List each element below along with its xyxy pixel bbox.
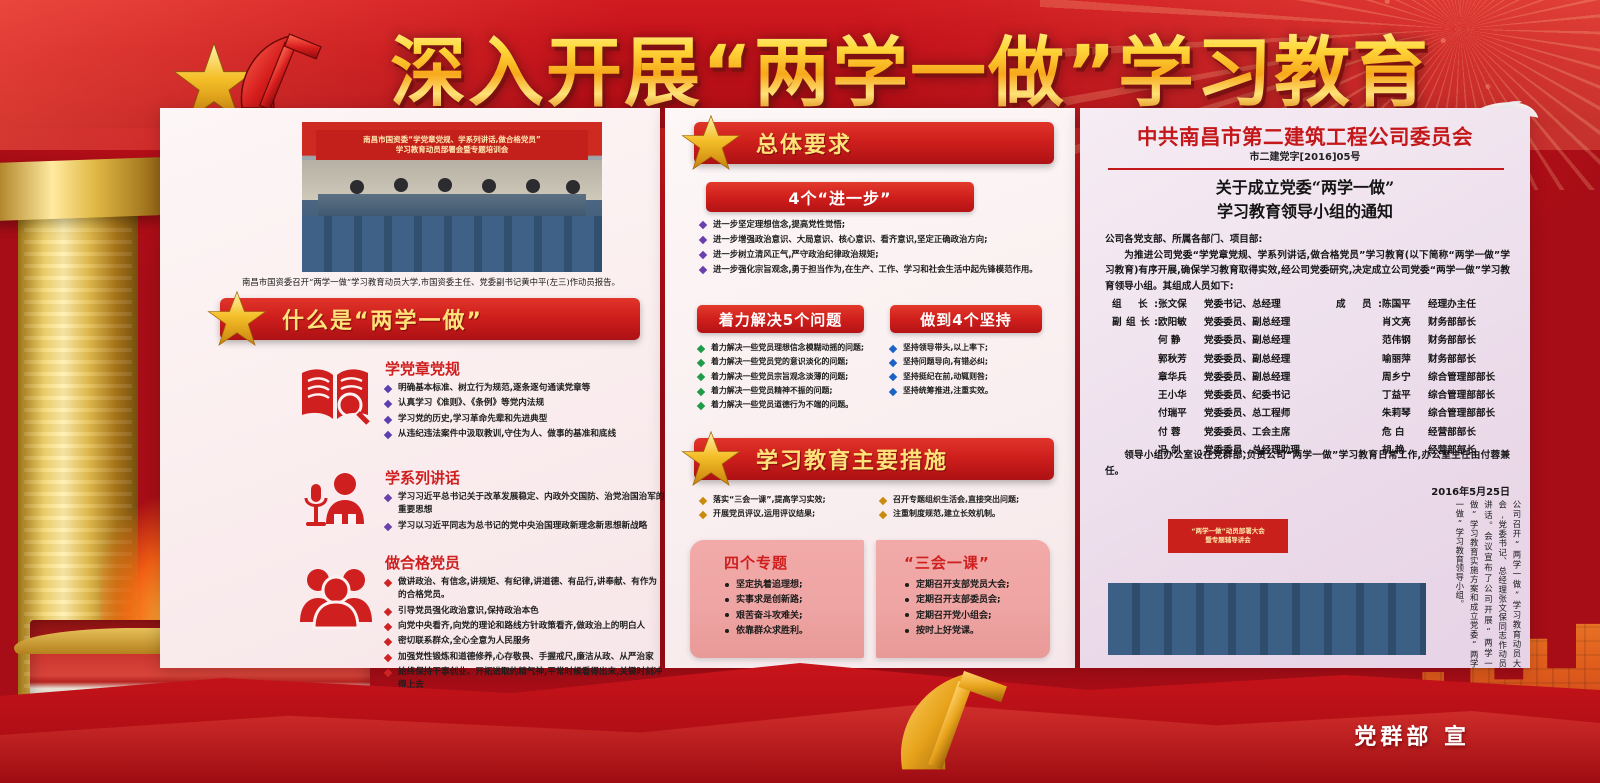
document-tail: 领导小组办公室设在党群部,负责公司“两学一做”学习教育日常工作,办公室主任由付蓉… — [1105, 448, 1510, 479]
list-item: 坚持问题导向,有错必纠; — [890, 356, 1055, 368]
photo-banner-text: 南昌市国资委“学党章党规、学系列讲话,做合格党员” 学习教育动员部署会暨专题培训… — [316, 130, 588, 160]
list-item: 实事求是创新路; — [724, 593, 864, 608]
photo-person — [350, 180, 364, 194]
roster-row: 章华兵党委委员、副总经理 — [1112, 369, 1327, 387]
organization-title: 中共南昌市第二建筑工程公司委员会 — [1090, 120, 1520, 150]
document-subject: 关于成立党委“两学一做” 学习教育领导小组的通知 — [1090, 176, 1520, 224]
overall-requirements-list: 进一步坚定理想信念,提高党性觉悟; 进一步增强政治意识、大局意识、核心意识、看齐… — [700, 218, 1060, 278]
list-item: 定期召开支部委员会; — [904, 593, 1050, 608]
roster-row: 危 白经营部部长 — [1336, 424, 1526, 442]
left-block-2: 学系列讲话 学习习近平总书记关于改革发展稳定、内政外交国防、治党治国治军的重要思… — [385, 467, 665, 535]
block-list: 做讲政治、有信念,讲规矩、有纪律,讲道德、有品行,讲奉献、有作为的合格党员。 引… — [385, 576, 665, 693]
roster-post: 党委委员、副总经理 — [1204, 351, 1290, 369]
roster-row: 丁益平综合管理部部长 — [1336, 387, 1526, 405]
list-item: 定期召开支部党员大会; — [904, 578, 1050, 593]
roster-label — [1336, 351, 1382, 369]
four-adherences-list: 坚持领导带头,以上率下; 坚持问题导向,有错必纠; 坚持挺纪在前,动辄则咎; 坚… — [890, 342, 1055, 399]
book-right-list: 定期召开支部党员大会; 定期召开支部委员会; 定期召开党小组会; 按时上好党课。 — [904, 578, 1050, 640]
roster-post: 综合管理部部长 — [1428, 387, 1495, 405]
roster-name: 付瑞平 — [1158, 405, 1204, 423]
roster-row: 付 蓉党委委员、工会主席 — [1112, 424, 1327, 442]
list-item: 进一步增强政治意识、大局意识、核心意识、看齐意识,坚定正确政治方向; — [700, 233, 1060, 246]
roster-name: 付 蓉 — [1158, 424, 1204, 442]
roster-name: 周乡宁 — [1382, 369, 1428, 387]
gold-star-icon — [206, 288, 268, 350]
document-number: 市二建党字[2016]05号 — [1090, 148, 1520, 163]
roster-row: 成 员:陈国平经理办主任 — [1336, 296, 1526, 314]
section-title: 总体要求 — [756, 127, 852, 159]
list-item: 认真学习《准则》、《条例》等党内法规 — [385, 397, 655, 410]
book-right-title: “三会一课” — [904, 552, 1050, 573]
roster-name: 危 白 — [1382, 424, 1428, 442]
block-list: 学习习近平总书记关于改革发展稳定、内政外交国防、治党治国治军的重要思想 学习以习… — [385, 491, 665, 533]
photo-person — [394, 178, 408, 192]
section-header-measures: 学习教育主要措施 — [694, 438, 1054, 480]
roster-name: 朱莉琴 — [1382, 405, 1428, 423]
list-item: 向党中央看齐,向党的理论和路线方针政策看齐,做政治上的明白人 — [385, 620, 665, 633]
book-left-list: 坚定执着追理想; 实事求是创新路; 艰苦奋斗攻难关; 依靠群众求胜利。 — [724, 578, 864, 640]
roster-name: 何 静 — [1158, 332, 1204, 350]
roster-row: 何 静党委委员、副总经理 — [1112, 332, 1327, 350]
left-block-1: 学党章党规 明确基本标准、树立行为规范,逐条逐句通读党章等 认真学习《准则》、《… — [385, 358, 655, 443]
photo2-banner-line2: 暨专题辅导讲会 — [1205, 536, 1251, 545]
list-item: 落实“三会一课”,提高学习实效; — [700, 494, 880, 506]
roster-name: 肖文亮 — [1382, 314, 1428, 332]
list-item: 学习以习近平同志为总书记的党中央治国理政新理念新思想新战略 — [385, 520, 665, 533]
open-book-icon — [298, 363, 372, 425]
pill-5-problems: 着力解决5个问题 — [697, 305, 864, 333]
list-item: 艰苦奋斗攻难关; — [724, 609, 864, 624]
roster-row: 付瑞平党委委员、总工程师 — [1112, 405, 1327, 423]
list-item: 坚持挺纪在前,动辄则咎; — [890, 371, 1055, 383]
roster-label — [1112, 387, 1158, 405]
photo-banner-line1: 南昌市国资委“学党章党规、学系列讲话,做合格党员” — [363, 135, 541, 145]
pill-4-adherences: 做到4个坚持 — [890, 305, 1042, 333]
document-divider — [1108, 168, 1504, 170]
roster-label — [1112, 332, 1158, 350]
five-problems-list: 着力解决一些党员理想信念模糊动摇的问题; 着力解决一些党员党的意识淡化的问题; … — [698, 342, 873, 413]
roster-label — [1112, 405, 1158, 423]
meeting-photo-1: 南昌市国资委“学党章党规、学系列讲话,做合格党员” 学习教育动员部署会暨专题培训… — [302, 122, 602, 272]
list-item: 着力解决一些党员道德行为不端的问题。 — [698, 399, 873, 411]
roster-post: 党委委员、工会主席 — [1204, 424, 1290, 442]
roster-row: 副组长:欧阳敏党委委员、副总经理 — [1112, 314, 1327, 332]
list-item: 从违纪违法案件中汲取教训,守住为人、做事的基准和底线 — [385, 428, 655, 441]
hammer-sickle-icon — [228, 22, 338, 122]
left-block-3: 做合格党员 做讲政治、有信念,讲规矩、有纪律,讲道德、有品行,讲奉献、有作为的合… — [385, 552, 665, 695]
block-title: 做合格党员 — [385, 552, 665, 573]
photo-head-table — [318, 194, 586, 218]
photo-audience — [302, 216, 602, 272]
roster-post: 综合管理部部长 — [1428, 369, 1495, 387]
roster-label — [1336, 369, 1382, 387]
roster-post: 财务部部长 — [1428, 314, 1476, 332]
roster-post: 经营部部长 — [1428, 424, 1476, 442]
section-header-what-is: 什么是“两学一做” — [220, 298, 640, 340]
hammer-sickle-icon — [880, 659, 1030, 779]
roster-name: 范伟钢 — [1382, 332, 1428, 350]
list-item: 进一步树立清风正气,严守政治纪律政治规矩; — [700, 248, 1060, 261]
list-item: 按时上好党课。 — [904, 624, 1050, 639]
photo-caption: 南昌市国资委召开“两学一做”学习教育动员大学,市国资委主任、党委副书记黄中平(左… — [196, 276, 666, 288]
roster-label — [1336, 405, 1382, 423]
list-item: 开展党员评议,运用评议结果; — [700, 508, 880, 520]
roster-row: 范伟钢财务部部长 — [1336, 332, 1526, 350]
roster-right: 成 员:陈国平经理办主任 肖文亮财务部部长 范伟钢财务部部长 喻丽萍财务部部长 … — [1336, 296, 1526, 460]
list-item: 引导党员强化政治意识,保持政治本色 — [385, 605, 665, 618]
list-item: 着力解决一些党员党的意识淡化的问题; — [698, 356, 873, 368]
section-title: 学习教育主要措施 — [756, 443, 948, 475]
list-item: 依靠群众求胜利。 — [724, 624, 864, 639]
document-addressee: 公司各党支部、所属各部门、项目部: — [1105, 232, 1510, 248]
roster-label: 组 长: — [1112, 296, 1158, 314]
roster-name: 郭秋芳 — [1158, 351, 1204, 369]
photo2-banner-line1: “两学一做”动员部署大会 — [1191, 527, 1265, 536]
list-item: 召开专题组织生活会,直接突出问题; — [880, 494, 1060, 506]
roster-post: 综合管理部部长 — [1428, 405, 1495, 423]
roster-post: 财务部部长 — [1428, 351, 1476, 369]
roster-row: 王小华党委委员、纪委书记 — [1112, 387, 1327, 405]
list-item: 着力解决一些党员理想信念模糊动摇的问题; — [698, 342, 873, 354]
list-item: 定期召开党小组会; — [904, 609, 1050, 624]
roster-post: 党委委员、副总经理 — [1204, 314, 1290, 332]
roster-post: 党委委员、纪委书记 — [1204, 387, 1290, 405]
roster-label — [1112, 351, 1158, 369]
roster-name: 张文保 — [1158, 296, 1204, 314]
roster-name: 王小华 — [1158, 387, 1204, 405]
roster-row: 朱莉琴综合管理部部长 — [1336, 405, 1526, 423]
book-left-title: 四个专题 — [724, 552, 864, 573]
subject-line-2: 学习教育领导小组的通知 — [1090, 200, 1520, 224]
roster-label: 副组长: — [1112, 314, 1158, 332]
list-item: 着力解决一些党员宗旨观念淡薄的问题; — [698, 371, 873, 383]
list-item: 做讲政治、有信念,讲规矩、有纪律,讲道德、有品行,讲奉献、有作为的合格党员。 — [385, 576, 665, 603]
page-title: 深入开展“两学一做”学习教育 — [330, 16, 1490, 116]
microphone-speaker-icon — [298, 470, 372, 530]
list-item: 注重制度规范,建立长效机制。 — [880, 508, 1060, 520]
open-book-graphic: 四个专题 坚定执着追理想; 实事求是创新路; 艰苦奋斗攻难关; 依靠群众求胜利。… — [690, 540, 1050, 658]
roster-name: 章华兵 — [1158, 369, 1204, 387]
list-item: 加强党性锻炼和道德修养,心存敬畏、手握戒尺,廉洁从政、从严治家 — [385, 651, 665, 664]
roster-post: 党委委员、副总经理 — [1204, 369, 1290, 387]
roster-name: 陈国平 — [1382, 296, 1428, 314]
poster-canvas: 深入开展“两学一做”学习教育 中华人民共和国万岁 南昌市国资委“学党章党规、学系… — [0, 0, 1600, 783]
list-item: 学习习近平总书记关于改革发展稳定、内政外交国防、治党治国治军的重要思想 — [385, 491, 665, 518]
block-list: 明确基本标准、树立行为规范,逐条逐句通读党章等 认真学习《准则》、《条例》等党内… — [385, 382, 655, 441]
list-item: 学习党的历史,学习革命先辈和先进典型 — [385, 413, 655, 426]
book-page-left: 四个专题 坚定执着追理想; 实事求是创新路; 艰苦奋斗攻难关; 依靠群众求胜利。 — [690, 540, 864, 658]
list-item: 坚持统筹推进,注重实效。 — [890, 385, 1055, 397]
roster-row: 郭秋芳党委委员、副总经理 — [1112, 351, 1327, 369]
book-page-right: “三会一课” 定期召开支部党员大会; 定期召开支部委员会; 定期召开党小组会; … — [876, 540, 1050, 658]
block-title: 学系列讲话 — [385, 467, 665, 488]
section-title: 什么是“两学一做” — [282, 303, 483, 335]
people-group-icon — [294, 560, 378, 630]
roster-post: 财务部部长 — [1428, 332, 1476, 350]
roster-label — [1336, 387, 1382, 405]
gold-star-icon — [680, 112, 742, 174]
roster-name: 喻丽萍 — [1382, 351, 1428, 369]
roster-row: 组 长:张文保党委书记、总经理 — [1112, 296, 1327, 314]
roster-left: 组 长:张文保党委书记、总经理 副组长:欧阳敏党委委员、副总经理 何 静党委委员… — [1112, 296, 1327, 460]
section-header-overall: 总体要求 — [694, 122, 1054, 164]
measures-list-left: 落实“三会一课”,提高学习实效; 开展党员评议,运用评议结果; — [700, 494, 880, 523]
list-item: 坚持领导带头,以上率下; — [890, 342, 1055, 354]
roster-row: 喻丽萍财务部部长 — [1336, 351, 1526, 369]
meeting-photo-2: “两学一做”动员部署大会 暨专题辅导讲会 — [1108, 505, 1426, 655]
list-item: 着力解决一些党员精神不振的问题; — [698, 385, 873, 397]
list-item: 明确基本标准、树立行为规范,逐条逐句通读党章等 — [385, 382, 655, 395]
list-item: 坚定执着追理想; — [724, 578, 864, 593]
photo2-audience — [1108, 583, 1426, 655]
roster-label — [1336, 332, 1382, 350]
roster-post: 党委委员、副总经理 — [1204, 332, 1290, 350]
roster-label — [1112, 369, 1158, 387]
roster-label — [1336, 314, 1382, 332]
document-paragraph: 为推进公司党委“学党章党规、学系列讲话,做合格党员”学习教育(以下简称“两学一做… — [1105, 248, 1510, 295]
list-item: 密切联系群众,全心全意为人民服务 — [385, 635, 665, 648]
list-item: 进一步坚定理想信念,提高党性觉悟; — [700, 218, 1060, 231]
list-item: 进一步强化宗旨观念,勇于担当作为,在生产、工作、学习和社会生活中起先锋模范作用。 — [700, 263, 1060, 276]
roster-post: 党委书记、总经理 — [1204, 296, 1281, 314]
measures-list-right: 召开专题组织生活会,直接突出问题; 注重制度规范,建立长效机制。 — [880, 494, 1060, 523]
photo-person — [526, 179, 540, 193]
document-body: 公司各党支部、所属各部门、项目部: 为推进公司党委“学党章党规、学系列讲话,做合… — [1105, 232, 1510, 294]
roster-post: 党委委员、总工程师 — [1204, 405, 1290, 423]
block-title: 学党章党规 — [385, 358, 655, 379]
photo-person — [438, 178, 452, 192]
roster-row: 周乡宁综合管理部部长 — [1336, 369, 1526, 387]
document-date: 2016年5月25日 — [1105, 483, 1510, 498]
party-emblem — [170, 16, 340, 121]
roster-name: 欧阳敏 — [1158, 314, 1204, 332]
roster-post: 经理办主任 — [1428, 296, 1476, 314]
vertical-caption: 公司召开“两学一做”学习教育动员大会,党委书记、总经理张文保同志作动员讲话。会议… — [1438, 500, 1524, 668]
photo-banner-line2: 学习教育动员部署会暨专题培训会 — [396, 145, 509, 155]
photo-person — [566, 180, 580, 194]
publisher-signature: 党群部 宣 — [1354, 719, 1470, 751]
roster-label: 成 员: — [1336, 296, 1382, 314]
subject-line-1: 关于成立党委“两学一做” — [1090, 176, 1520, 200]
photo-person — [482, 179, 496, 193]
roster-label — [1336, 424, 1382, 442]
roster-name: 丁益平 — [1382, 387, 1428, 405]
pill-4-further-steps: 4个“进一步” — [706, 182, 974, 212]
roster-row: 肖文亮财务部部长 — [1336, 314, 1526, 332]
gold-star-icon — [680, 428, 742, 490]
photo2-banner-text: “两学一做”动员部署大会 暨专题辅导讲会 — [1168, 519, 1288, 553]
roster-label — [1112, 424, 1158, 442]
